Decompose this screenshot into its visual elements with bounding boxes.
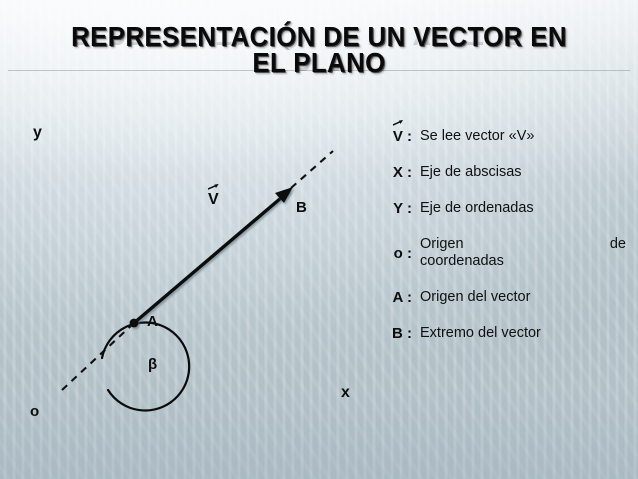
dashed-line-lower: [62, 323, 134, 390]
vector-arrow-overbar-icon: [393, 119, 403, 127]
legend-value-point-a: Origen del vector: [420, 289, 626, 306]
legend-key-point-a: A :: [378, 289, 420, 306]
legend-key-vector-glyph: V: [393, 128, 403, 145]
legend-key-x-axis: X :: [378, 164, 420, 181]
legend-key-vector: V :: [378, 128, 420, 145]
title-line-2-row: el plano el plano: [0, 48, 638, 78]
legend-key-b-letter: B: [392, 325, 403, 342]
diagram-svg: [0, 104, 375, 434]
slide-canvas: Representación de un vector en Represent…: [0, 0, 638, 479]
legend-row-point-a: A : Origen del vector: [378, 287, 626, 307]
legend-row-point-b: B : Extremo del vector: [378, 323, 626, 343]
dashed-line-upper: [291, 151, 333, 188]
legend-value-origin-line-2: coordenadas: [420, 253, 626, 270]
legend-value-x-axis: Eje de abscisas: [420, 164, 626, 181]
angle-arc: [102, 322, 189, 410]
legend-value-origin: Origen de coordenadas: [420, 236, 626, 270]
legend-key-a-separator: :: [407, 289, 412, 306]
page-title: Representación de un vector en Represent…: [0, 22, 638, 78]
legend-key-x-separator: :: [407, 164, 412, 181]
vector-shaft: [134, 192, 288, 323]
legend-key-origin: o :: [378, 245, 420, 262]
legend-key-b-separator: :: [407, 325, 412, 342]
legend-key-vector-letter: V: [393, 128, 403, 145]
legend-key-a-letter: A: [393, 289, 403, 306]
point-a-label: A: [147, 314, 158, 329]
x-axis-label: x: [341, 385, 350, 401]
legend-value-y-axis: Eje de ordenadas: [420, 200, 626, 217]
angle-beta-label: β: [148, 357, 157, 372]
legend-key-y-letter: Y: [393, 200, 403, 217]
vector-v-glyph-wrap: V: [208, 192, 219, 208]
legend-value-point-b: Extremo del vector: [420, 325, 626, 342]
legend-row-y-axis: Y : Eje de ordenadas: [378, 198, 626, 218]
legend-list: V : Se lee vector «V» X : Eje de abscisa…: [378, 126, 626, 354]
legend-value-vector: Se lee vector «V»: [420, 128, 626, 145]
vector-v-label: V: [208, 192, 219, 208]
vector-arrow-overbar-icon: [208, 183, 219, 191]
y-axis-label: y: [33, 125, 42, 141]
legend-row-origin: o : Origen de coordenadas: [378, 236, 626, 270]
legend-value-origin-line-1: Origen de: [420, 236, 626, 253]
legend-key-origin-separator: :: [407, 245, 412, 262]
legend-row-x-axis: X : Eje de abscisas: [378, 162, 626, 182]
origin-label: o: [30, 404, 39, 419]
legend-key-x-letter: X: [393, 164, 403, 181]
point-b-label: B: [296, 200, 307, 215]
legend-key-vector-separator: :: [407, 128, 412, 145]
legend-row-vector: V : Se lee vector «V»: [378, 126, 626, 146]
legend-key-y-separator: :: [407, 200, 412, 217]
legend-key-y-axis: Y :: [378, 200, 420, 217]
vector-v-letter: V: [208, 191, 219, 208]
legend-key-point-b: B :: [378, 325, 420, 342]
vector-diagram: y x o A B β V: [0, 104, 375, 434]
title-line-2: el plano: [19, 48, 619, 78]
legend-key-origin-letter: o: [394, 245, 403, 262]
point-a-marker: [130, 319, 139, 328]
